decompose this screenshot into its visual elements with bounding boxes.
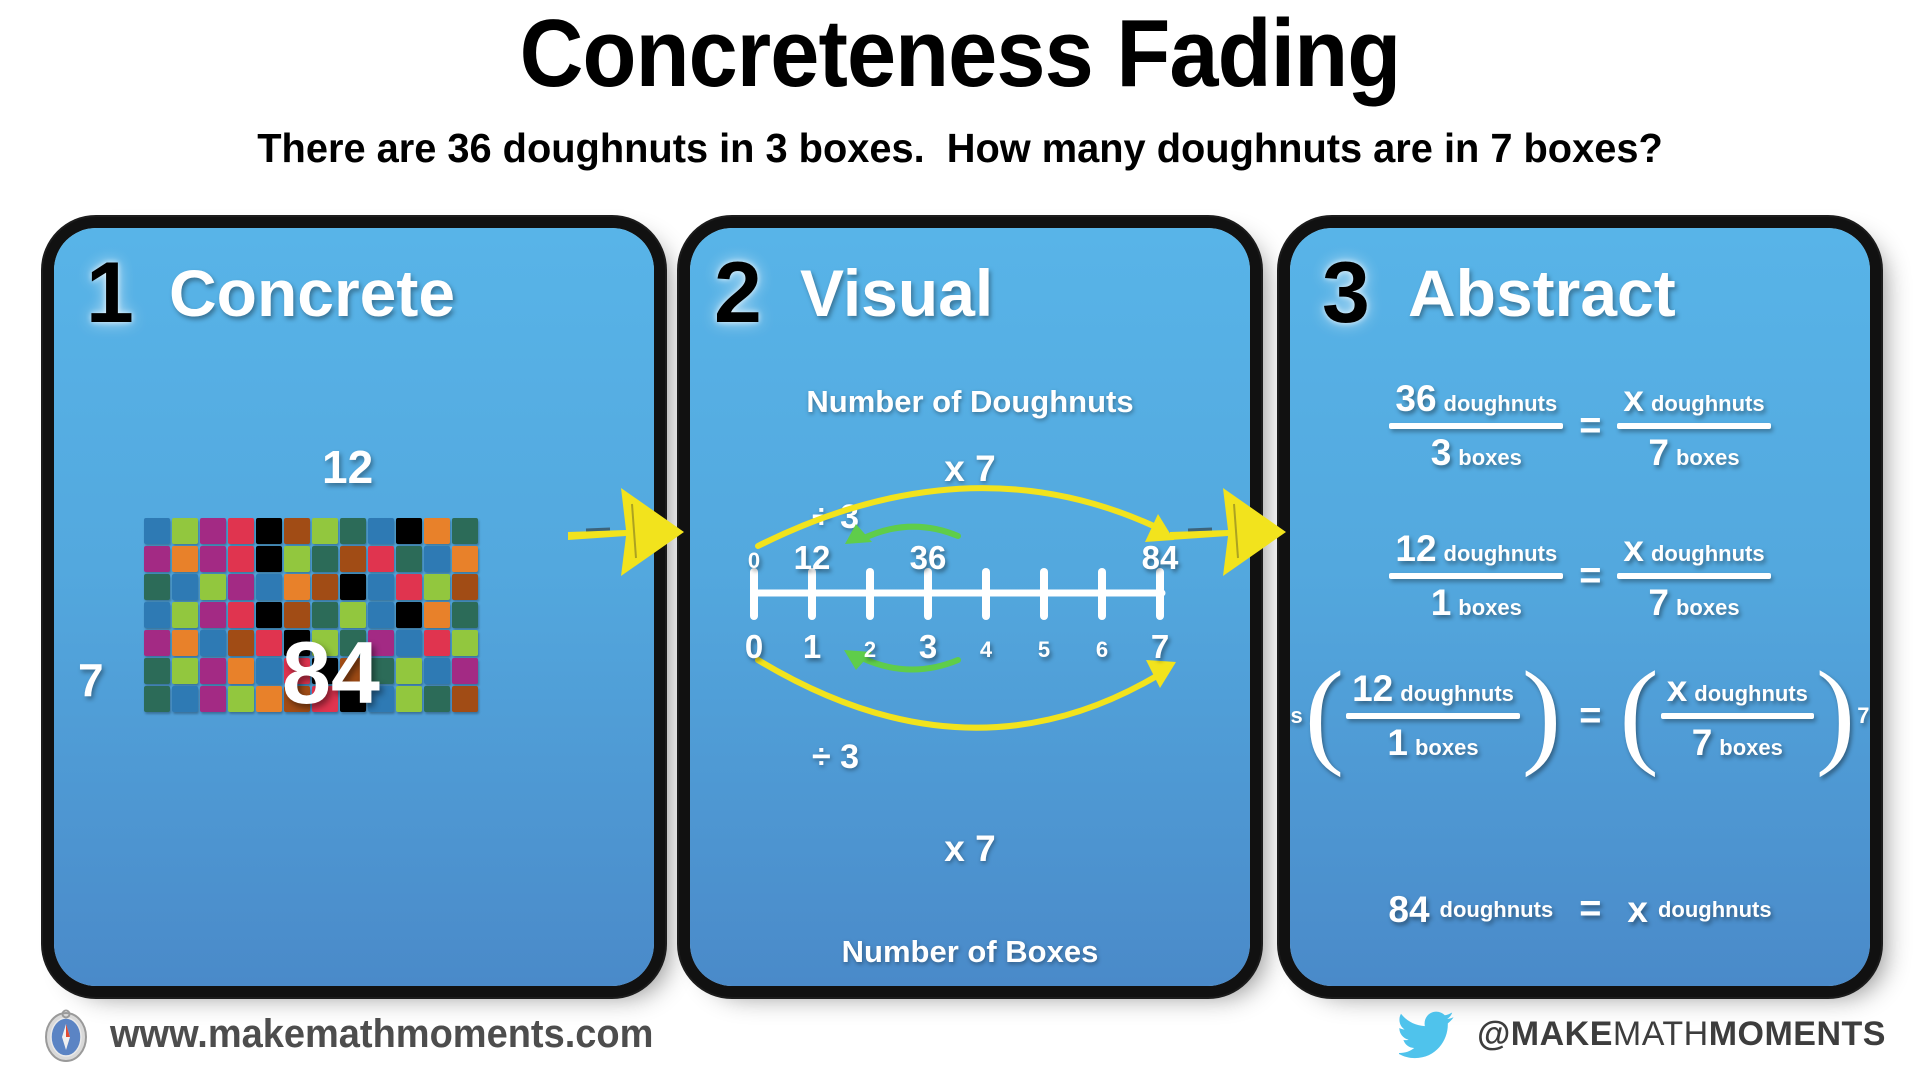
array-cell: [172, 630, 198, 656]
abstract-result: 84 doughnuts = x doughnuts: [1290, 888, 1870, 931]
array-cell: [172, 546, 198, 572]
arc-multiply-bottom: [758, 660, 1160, 728]
array-cell: [144, 574, 170, 600]
array-cell: [228, 658, 254, 684]
frac-denominator-value: 7: [1648, 582, 1669, 624]
fraction-bar: [1617, 573, 1770, 579]
array-cell: [228, 574, 254, 600]
frac-denominator-value: 7: [1648, 432, 1669, 474]
twitter-part3: MOMENTS: [1709, 1015, 1886, 1053]
array-cell: [200, 658, 226, 684]
array-cell: [144, 686, 170, 712]
array-cell: [256, 546, 282, 572]
array-cell: [424, 602, 450, 628]
panel-concrete-label: Concrete: [169, 260, 455, 326]
array-cell: [256, 574, 282, 600]
array-cell: [312, 518, 338, 544]
frac-denominator-unit: boxes: [1458, 445, 1522, 471]
array-cell: [424, 518, 450, 544]
array-cell: [200, 574, 226, 600]
page-subtitle: There are 36 doughnuts in 3 boxes. How m…: [29, 125, 1891, 172]
twitter-part1: MAKE: [1511, 1015, 1613, 1053]
panel-visual: 2 Visual Number of Doughnuts x 7 ÷ 3: [690, 228, 1250, 986]
array-cell: [452, 630, 478, 656]
twitter-handle[interactable]: @MAKEMATHMOMENTS: [1477, 1015, 1886, 1054]
array-cell: [368, 518, 394, 544]
website-url[interactable]: www.makemathmoments.com: [110, 1012, 653, 1057]
array-cell: [340, 546, 366, 572]
array-cell: [256, 658, 282, 684]
frac-numerator-unit: doughnuts: [1400, 681, 1514, 707]
number-line-bottom-tick-label: 4: [980, 637, 992, 663]
eq3-left-prefix: 7 boxes: [1290, 703, 1303, 729]
array-cell: [256, 686, 282, 712]
number-line-bottom-tick-label: 5: [1038, 637, 1050, 663]
array-cell: [228, 630, 254, 656]
result-right-value: x: [1627, 889, 1648, 931]
array-cell: [144, 658, 170, 684]
result-right-unit: doughnuts: [1658, 897, 1772, 923]
connector-arrow-2-to-3: [1168, 470, 1298, 590]
array-cell: [396, 630, 422, 656]
equals-sign: =: [1579, 405, 1601, 448]
frac-numerator-value: 12: [1395, 528, 1436, 570]
panel-abstract-number: 3: [1322, 250, 1370, 336]
frac-denominator-value: 7: [1692, 722, 1713, 764]
abstract-equation-1: 36doughnuts 3boxes = xdoughnuts 7boxes: [1290, 378, 1870, 474]
frac-numerator-value: x: [1623, 378, 1644, 420]
array-cell: [172, 574, 198, 600]
array-cell: [144, 630, 170, 656]
compass-icon: [38, 1006, 94, 1062]
number-line-bottom-tick-label: 6: [1096, 637, 1108, 663]
concrete-columns-label: 12: [322, 440, 373, 494]
infographic-root: Concreteness Fading There are 36 doughnu…: [0, 0, 1920, 1080]
array-cell: [368, 546, 394, 572]
array-cell: [200, 546, 226, 572]
frac-numerator-unit: doughnuts: [1694, 681, 1808, 707]
array-cell: [200, 686, 226, 712]
op-divide-bottom: ÷ 3: [812, 738, 859, 777]
array-cell: [228, 686, 254, 712]
frac-denominator-value: 1: [1387, 722, 1408, 764]
array-cell: [312, 574, 338, 600]
twitter-part2: MATH: [1613, 1015, 1709, 1053]
arc-divide-top: [862, 527, 958, 539]
frac-numerator-value: 36: [1395, 378, 1436, 420]
array-cell: [144, 546, 170, 572]
number-line-bottom-title: Number of Boxes: [690, 934, 1250, 970]
array-cell: [340, 518, 366, 544]
connector-arrow-1-to-2: [566, 470, 696, 590]
array-cell: [200, 630, 226, 656]
array-cell: [452, 546, 478, 572]
array-cell: [424, 686, 450, 712]
array-cell: [424, 658, 450, 684]
eq3-right-suffix-value: 7: [1857, 703, 1869, 728]
fraction-left-3: 12doughnuts 1boxes: [1346, 668, 1520, 764]
result-left-unit: doughnuts: [1440, 897, 1554, 923]
fraction-bar: [1617, 423, 1770, 429]
array-cell: [424, 546, 450, 572]
equals-sign: =: [1579, 695, 1601, 738]
arc-divide-bottom: [862, 658, 958, 670]
array-cell: [228, 602, 254, 628]
frac-denominator-unit: boxes: [1676, 595, 1740, 621]
fraction-bar: [1389, 573, 1563, 579]
array-cell: [144, 602, 170, 628]
frac-numerator-value: x: [1623, 528, 1644, 570]
number-line-bottom-tick-label: 1: [803, 628, 821, 666]
fraction-right-3: xdoughnuts 7boxes: [1661, 668, 1814, 764]
array-cell: [424, 574, 450, 600]
footer-website[interactable]: www.makemathmoments.com: [38, 1006, 682, 1062]
equals-sign: =: [1579, 555, 1601, 598]
op-multiply-bottom: x 7: [690, 828, 1250, 870]
result-left-value: 84: [1388, 889, 1429, 931]
fraction-right-1: xdoughnuts 7boxes: [1617, 378, 1770, 474]
array-cell: [284, 518, 310, 544]
frac-numerator-unit: doughnuts: [1651, 541, 1765, 567]
array-cell: [228, 518, 254, 544]
array-cell: [424, 630, 450, 656]
array-cell: [396, 658, 422, 684]
fraction-left-2: 12doughnuts 1boxes: [1389, 528, 1563, 624]
number-line-diagram: [690, 228, 1250, 986]
fraction-left-1: 36doughnuts 3boxes: [1389, 378, 1563, 474]
array-cell: [172, 658, 198, 684]
frac-denominator-value: 3: [1431, 432, 1452, 474]
array-cell: [256, 518, 282, 544]
array-cell: [256, 602, 282, 628]
array-cell: [452, 686, 478, 712]
array-cell: [396, 574, 422, 600]
panel-abstract-label: Abstract: [1408, 260, 1676, 326]
number-line-bottom-tick-label: 7: [1151, 628, 1169, 666]
frac-numerator-value: 12: [1352, 668, 1393, 710]
panel-abstract: 3 Abstract 36doughnuts 3boxes = xdoughnu…: [1290, 228, 1870, 986]
fraction-bar: [1346, 713, 1520, 719]
panel-concrete: 1 Concrete 12 7 84: [54, 228, 654, 986]
array-cell: [396, 602, 422, 628]
abstract-equation-2: 12doughnuts 1boxes = xdoughnuts 7boxes: [1290, 528, 1870, 624]
array-cell: [396, 686, 422, 712]
paren-open-right: (: [1619, 667, 1658, 759]
array-cell: [396, 518, 422, 544]
abstract-equation-3: 7 boxes ( 12doughnuts 1boxes ) = ( xdoug…: [1290, 668, 1870, 764]
frac-numerator-unit: doughnuts: [1444, 541, 1558, 567]
eq3-left-prefix-unit: boxes: [1290, 703, 1303, 728]
concrete-total-label: 84: [282, 622, 380, 724]
number-line-bottom-tick-label: 3: [919, 628, 937, 666]
page-title: Concreteness Fading: [77, 2, 1843, 106]
frac-denominator-value: 1: [1431, 582, 1452, 624]
frac-numerator-value: x: [1667, 668, 1688, 710]
frac-denominator-unit: boxes: [1458, 595, 1522, 621]
frac-denominator-unit: boxes: [1415, 735, 1479, 761]
array-cell: [284, 546, 310, 572]
number-line-bottom-tick-label: 2: [864, 637, 876, 663]
array-cell: [172, 686, 198, 712]
concrete-rows-label: 7: [78, 653, 104, 707]
twitter-bird-icon: [1399, 1008, 1461, 1060]
array-cell: [200, 518, 226, 544]
fraction-bar: [1661, 713, 1814, 719]
number-line-top-tick-label: 36: [910, 539, 947, 577]
array-cell: [144, 518, 170, 544]
array-cell: [452, 574, 478, 600]
array-cell: [228, 546, 254, 572]
equals-sign: =: [1579, 888, 1601, 931]
array-cell: [368, 574, 394, 600]
fraction-right-2: xdoughnuts 7boxes: [1617, 528, 1770, 624]
eq3-right-suffix: 7 boxes: [1857, 703, 1870, 729]
paren-close-left: ): [1522, 667, 1561, 759]
number-line-bottom-tick-label: 0: [745, 628, 763, 666]
panel-concrete-number: 1: [86, 250, 134, 336]
fraction-bar: [1389, 423, 1563, 429]
array-cell: [452, 658, 478, 684]
array-cell: [396, 546, 422, 572]
frac-denominator-unit: boxes: [1676, 445, 1740, 471]
number-line-top-tick-label: 0: [748, 548, 760, 574]
frac-numerator-unit: doughnuts: [1651, 391, 1765, 417]
array-cell: [256, 630, 282, 656]
array-cell: [452, 518, 478, 544]
twitter-at: @: [1477, 1015, 1511, 1053]
array-cell: [284, 574, 310, 600]
paren-open-left: (: [1305, 667, 1344, 759]
array-cell: [340, 574, 366, 600]
frac-denominator-unit: boxes: [1719, 735, 1783, 761]
array-cell: [312, 546, 338, 572]
array-cell: [452, 602, 478, 628]
paren-close-right: ): [1816, 667, 1855, 759]
footer-twitter[interactable]: @MAKEMATHMOMENTS: [1399, 1008, 1886, 1060]
array-cell: [172, 602, 198, 628]
array-cell: [200, 602, 226, 628]
array-cell: [172, 518, 198, 544]
frac-numerator-unit: doughnuts: [1444, 391, 1558, 417]
number-line-top-tick-label: 12: [794, 539, 831, 577]
